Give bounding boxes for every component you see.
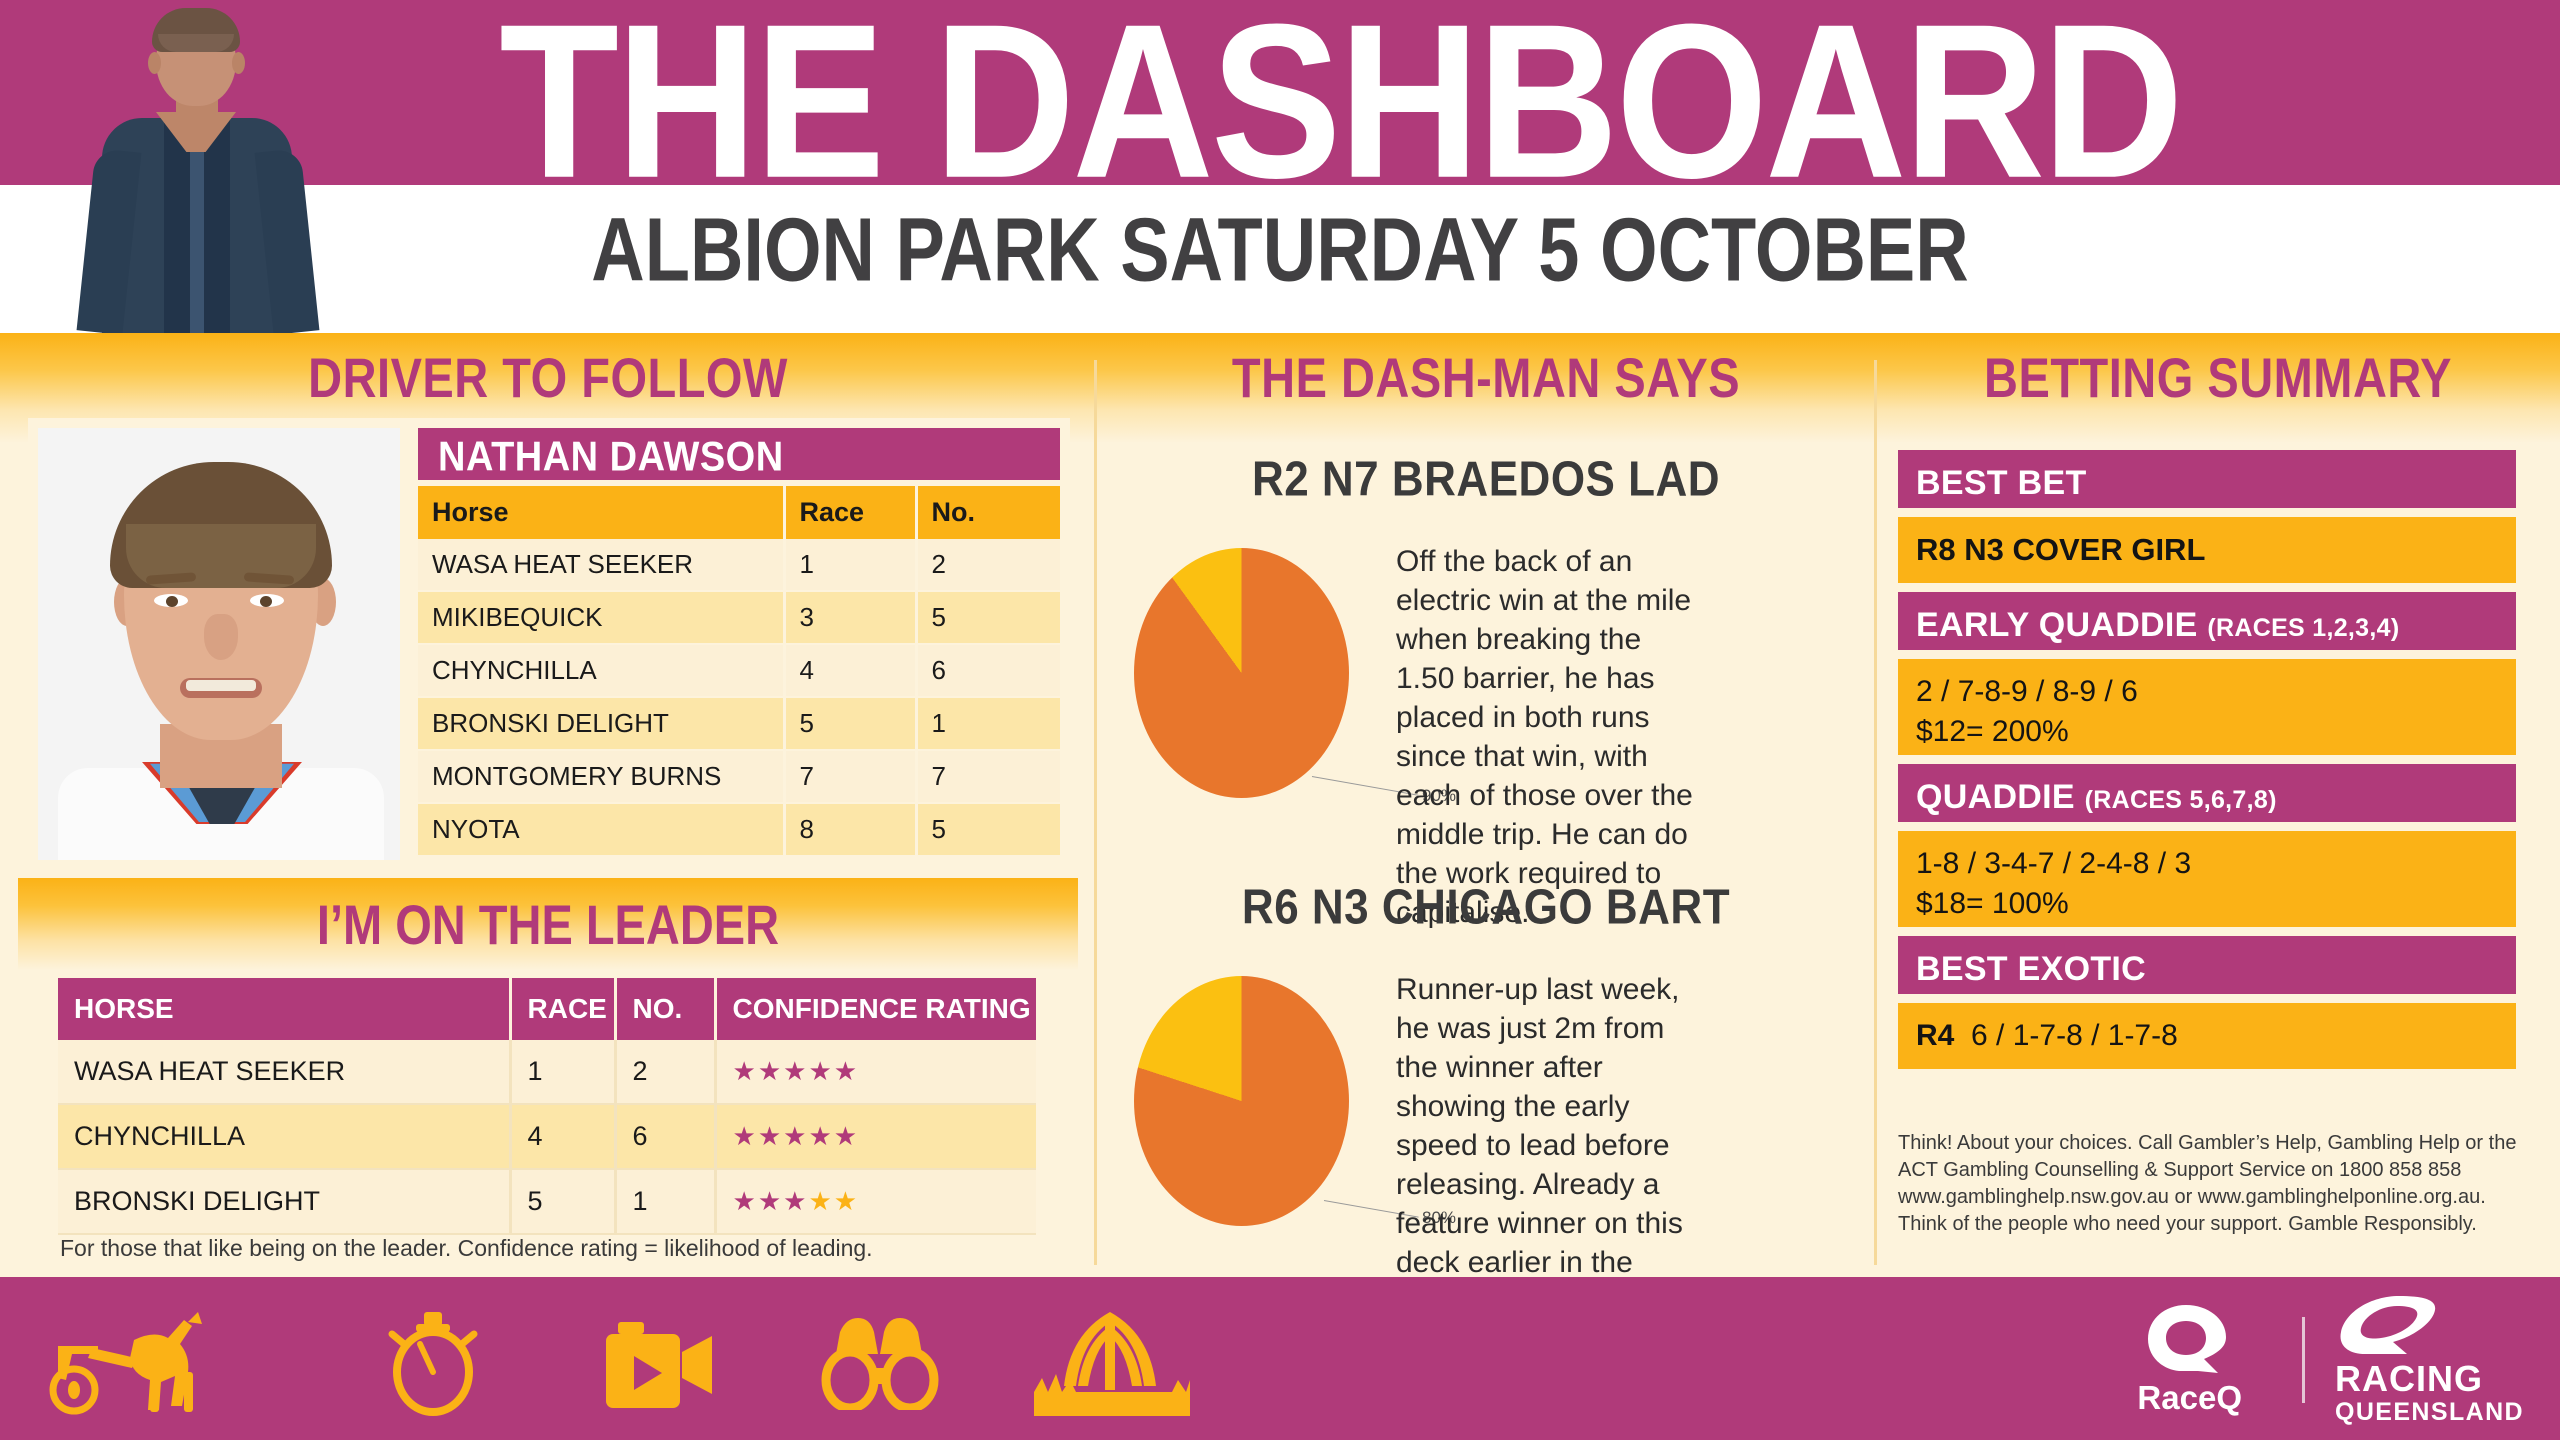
early-quaddie-value: 2 / 7-8-9 / 8-9 / 6 $12= 200% — [1898, 659, 2516, 755]
quaddie-value: 1-8 / 3-4-7 / 2-4-8 / 3 $18= 100% — [1898, 831, 2516, 927]
column-divider-right — [1874, 360, 1877, 1265]
video-camera-icon[interactable] — [596, 1318, 726, 1415]
cell-race: 5 — [510, 1169, 615, 1234]
cell-horse: CHYNCHILLA — [418, 644, 784, 697]
pie-chart-1: 90% — [1134, 548, 1374, 798]
racing-wordmark: RACING — [2335, 1360, 2483, 1398]
quaddie-label: QUADDIE — [1916, 778, 2075, 816]
driver-name: NATHAN DAWSON — [438, 434, 784, 481]
cell-no: 6 — [916, 644, 1060, 697]
col-header-race: Race — [784, 486, 916, 539]
cell-no: 6 — [615, 1104, 715, 1169]
harness-racing-icon[interactable] — [48, 1310, 238, 1421]
col-header-no: NO. — [615, 978, 715, 1040]
early-quaddie-line-1: 2 / 7-8-9 / 8-9 / 6 — [1916, 672, 2516, 712]
early-quaddie-races: (RACES 1,2,3,4) — [2207, 614, 2399, 642]
driver-to-follow-card: NATHAN DAWSON Horse Race No. WASA HEAT S… — [28, 418, 1070, 870]
best-exotic-value: R4 6 / 1-7-8 / 1-7-8 — [1898, 1003, 2516, 1069]
col-header-no: No. — [916, 486, 1060, 539]
cell-horse: BRONSKI DELIGHT — [418, 697, 784, 750]
cell-horse: WASA HEAT SEEKER — [58, 1040, 510, 1104]
tip-card-1: R2 N7 BRAEDOS LAD 90% Off the back of an… — [1106, 452, 1866, 848]
quaddie-header: QUADDIE (RACES 5,6,7,8) — [1898, 764, 2516, 822]
queensland-wordmark: QUEENSLAND — [2335, 1398, 2524, 1426]
betting-summary-panel: BEST BET R8 N3 COVER GIRL EARLY QUADDIE … — [1898, 450, 2516, 1069]
cell-race: 4 — [784, 644, 916, 697]
page-title: THE DASHBOARD — [0, 0, 2560, 212]
racing-queensland-mark-icon — [2335, 1294, 2439, 1356]
quaddie-line-2: $18= 100% — [1916, 884, 2516, 924]
section-title-betting-summary: BETTING SUMMARY — [1876, 345, 2560, 410]
table-row: MONTGOMERY BURNS 7 7 — [418, 750, 1060, 803]
quaddie-line-1: 1-8 / 3-4-7 / 2-4-8 / 3 — [1916, 844, 2516, 884]
cell-no: 2 — [916, 539, 1060, 591]
table-row: WASA HEAT SEEKER 1 2 ★★★★★ — [58, 1040, 1036, 1104]
table-row: NYOTA 8 5 — [418, 803, 1060, 856]
cell-race: 1 — [510, 1040, 615, 1104]
logo-divider — [2302, 1317, 2305, 1403]
cell-no: 1 — [916, 697, 1060, 750]
cell-no: 2 — [615, 1040, 715, 1104]
cell-confidence-rating: ★★★★★ — [715, 1040, 1036, 1104]
early-quaddie-line-2: $12= 200% — [1916, 712, 2516, 752]
pie-chart-2: 80% — [1134, 976, 1374, 1226]
pie-slice-group — [1134, 548, 1349, 798]
cell-race: 1 — [784, 539, 916, 591]
cell-no: 5 — [916, 591, 1060, 644]
col-header-horse: Horse — [418, 486, 784, 539]
best-bet-value: R8 N3 COVER GIRL — [1898, 517, 2516, 583]
dashboard-page: THE DASHBOARD THE DASHBOARD ALBION PARK … — [0, 0, 2560, 1440]
gambling-disclaimer: Think! About your choices. Call Gambler’… — [1898, 1130, 2520, 1238]
leader-table: HORSE RACE NO. CONFIDENCE RATING WASA HE… — [58, 978, 1036, 1235]
host-presenter-photo — [72, 0, 322, 333]
cell-race: 7 — [784, 750, 916, 803]
table-row: MIKIBEQUICK 3 5 — [418, 591, 1060, 644]
cell-horse: CHYNCHILLA — [58, 1104, 510, 1169]
cell-race: 5 — [784, 697, 916, 750]
cell-horse: MONTGOMERY BURNS — [418, 750, 784, 803]
quaddie-races: (RACES 5,6,7,8) — [2085, 786, 2277, 814]
raceq-wordmark: RaceQ — [2137, 1379, 2242, 1417]
cell-horse: BRONSKI DELIGHT — [58, 1169, 510, 1234]
page-subtitle: ALBION PARK SATURDAY 5 OCTOBER — [0, 205, 2560, 295]
cell-horse: WASA HEAT SEEKER — [418, 539, 784, 591]
table-row: BRONSKI DELIGHT 5 1 — [418, 697, 1060, 750]
tip-card-2: R6 N3 CHICAGO BART 80% Runner-up last we… — [1106, 880, 1866, 1276]
best-exotic-race: R4 — [1916, 1019, 1954, 1052]
tip-title: R2 N7 BRAEDOS LAD — [1106, 452, 1866, 508]
table-header-row: Horse Race No. — [418, 486, 1060, 539]
cell-race: 8 — [784, 803, 916, 856]
table-row: WASA HEAT SEEKER 1 2 — [418, 539, 1060, 591]
cell-no: 5 — [916, 803, 1060, 856]
best-bet-header: BEST BET — [1898, 450, 2516, 508]
col-header-horse: HORSE — [58, 978, 510, 1040]
col-header-race: RACE — [510, 978, 615, 1040]
star-rating: ★★★★★ — [733, 1121, 860, 1151]
leader-title: I’M ON THE LEADER — [0, 892, 1096, 957]
section-title-driver-to-follow: DRIVER TO FOLLOW — [0, 345, 1096, 410]
cell-race: 4 — [510, 1104, 615, 1169]
racing-queensland-logo: RACING QUEENSLAND — [2335, 1294, 2524, 1426]
cell-confidence-rating: ★★★★★ — [715, 1169, 1036, 1234]
best-exotic-header: BEST EXOTIC — [1898, 936, 2516, 994]
cell-race: 3 — [784, 591, 916, 644]
pie-slice-group — [1134, 976, 1349, 1226]
cell-horse: NYOTA — [418, 803, 784, 856]
leader-footnote: For those that like being on the leader.… — [60, 1235, 1020, 1262]
tip-title: R6 N3 CHICAGO BART — [1106, 880, 1866, 936]
table-row: BRONSKI DELIGHT 5 1 ★★★★★ — [58, 1169, 1036, 1234]
table-header-row: HORSE RACE NO. CONFIDENCE RATING — [58, 978, 1036, 1040]
early-quaddie-label: EARLY QUADDIE — [1916, 606, 2198, 644]
raceq-mark-icon — [2142, 1303, 2238, 1377]
driver-horses-table: Horse Race No. WASA HEAT SEEKER 1 2 MIKI… — [418, 486, 1060, 857]
column-divider-left — [1094, 360, 1097, 1265]
section-title-dash-man-says: THE DASH-MAN SAYS — [1096, 345, 1876, 410]
driver-portrait — [38, 428, 400, 860]
cell-no: 1 — [615, 1169, 715, 1234]
driver-name-bar: NATHAN DAWSON — [418, 428, 1060, 480]
table-row: CHYNCHILLA 4 6 ★★★★★ — [58, 1104, 1036, 1169]
best-exotic-combo: 6 / 1-7-8 / 1-7-8 — [1971, 1019, 2178, 1052]
binoculars-icon[interactable] — [818, 1316, 942, 1415]
star-rating: ★★★★★ — [733, 1056, 860, 1086]
grandstand-icon[interactable] — [1030, 1306, 1190, 1427]
early-quaddie-header: EARLY QUADDIE (RACES 1,2,3,4) — [1898, 592, 2516, 650]
cell-confidence-rating: ★★★★★ — [715, 1104, 1036, 1169]
logo-area: RaceQ RACING QUEENSLAND — [2137, 1305, 2524, 1415]
tip-text: Off the back of an electric win at the m… — [1396, 542, 1696, 932]
raceq-logo: RaceQ — [2137, 1303, 2242, 1417]
star-rating: ★★★★★ — [733, 1186, 860, 1216]
col-header-confidence-rating: CONFIDENCE RATING — [715, 978, 1036, 1040]
cell-no: 7 — [916, 750, 1060, 803]
stopwatch-icon[interactable] — [378, 1310, 488, 1421]
table-row: CHYNCHILLA 4 6 — [418, 644, 1060, 697]
cell-horse: MIKIBEQUICK — [418, 591, 784, 644]
